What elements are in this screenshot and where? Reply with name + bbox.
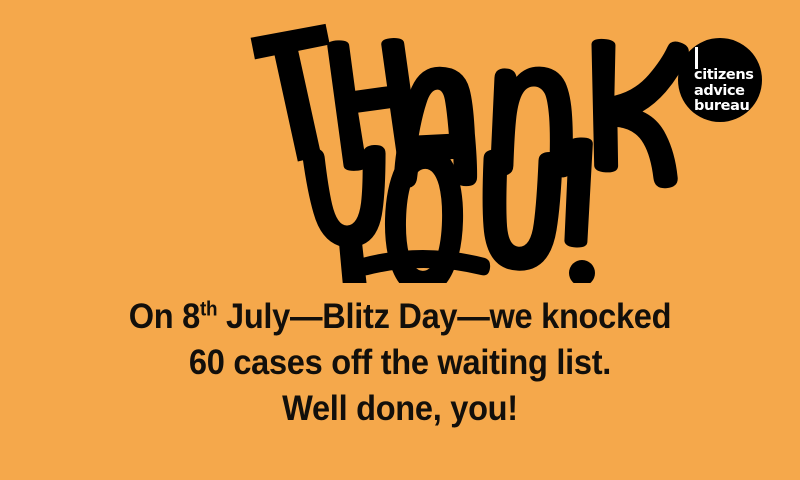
headline-line-2: 60 cases off the waiting list.	[28, 340, 772, 386]
logo-wordmark: citizens advice bureau	[694, 68, 760, 115]
logo-line-bureau: bureau	[694, 99, 760, 115]
headline-line-1: On 8th July—Blitz Day—we knocked	[28, 294, 772, 340]
logo-bar-mark	[695, 47, 698, 69]
headline-line-1-prefix: On 8	[129, 297, 200, 336]
logo-line-advice: advice	[694, 84, 760, 100]
logo-line-citizens: citizens	[694, 68, 760, 84]
letter-U	[479, 149, 563, 272]
headline-line-1-suffix: July—Blitz Day—we knocked	[217, 297, 671, 336]
citizens-advice-bureau-logo: citizens advice bureau	[678, 38, 762, 122]
letter-K	[583, 36, 689, 189]
thank-you-lettering	[0, 18, 800, 283]
ordinal-suffix: th	[200, 298, 217, 320]
exclamation-mark	[564, 137, 595, 283]
headline-line-3: Well done, you!	[28, 386, 772, 432]
headline-block: On 8th July—Blitz Day—we knocked 60 case…	[0, 294, 800, 432]
thank-you-poster: citizens advice bureau On 8th July—Blitz…	[0, 0, 800, 480]
